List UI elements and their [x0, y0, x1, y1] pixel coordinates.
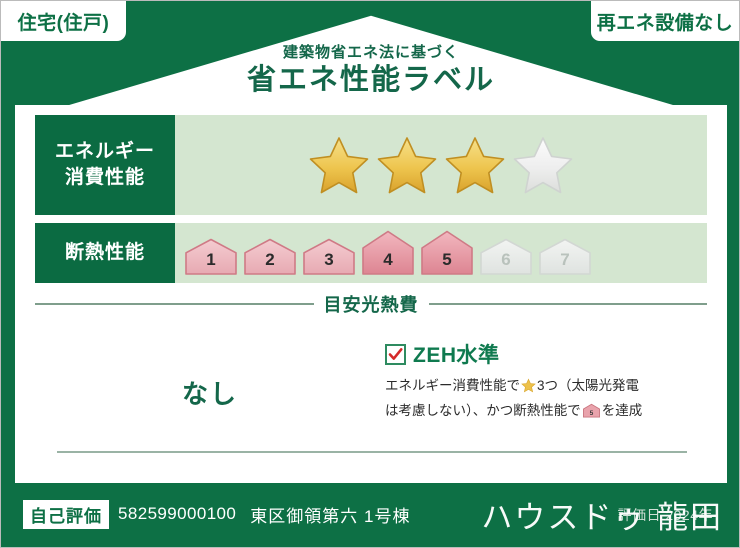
checkbox-icon	[385, 344, 406, 365]
zeh-desc-part3: を達成	[602, 403, 643, 418]
badge-renewable-energy-label: 再エネ設備なし	[597, 8, 734, 35]
star-icon-filled	[307, 134, 371, 196]
energy-performance-label-line1: エネルギー	[55, 139, 155, 165]
insulation-performance-label-text: 断熱性能	[65, 240, 145, 266]
house-icon	[302, 238, 356, 276]
insulation-level-6: 6	[478, 238, 534, 276]
utility-cost-header: 目安光熱費	[35, 291, 707, 317]
zeh-title: ZEH水準	[413, 339, 500, 369]
insulation-level-scale: 1234567	[183, 230, 593, 276]
star-icon-filled	[375, 134, 439, 196]
insulation-level-2: 2	[242, 238, 298, 276]
house-icon	[538, 238, 592, 276]
zeh-desc-star-count: 3つ（太陽光発電	[537, 378, 639, 393]
label-body-card: エネルギー 消費性能 断熱性能 1234567 目安光熱費	[15, 105, 727, 483]
insulation-performance-label: 断熱性能	[35, 223, 175, 283]
row-energy-performance: エネルギー 消費性能	[35, 115, 707, 215]
zeh-desc-part1: エネルギー消費性能で	[385, 378, 520, 393]
insulation-performance-value: 1234567	[175, 223, 707, 283]
star-icon-filled	[443, 134, 507, 196]
star-icon-inline	[521, 378, 536, 400]
star-icon-empty	[511, 134, 575, 196]
house-icon	[361, 230, 415, 276]
row-insulation-performance: 断熱性能 1234567	[35, 223, 707, 283]
zeh-heading: ZEH水準	[385, 339, 707, 369]
energy-performance-label-line2: 消費性能	[65, 165, 145, 191]
zeh-desc-part2: は考慮しない）、かつ断熱性能で	[385, 403, 581, 418]
house-icon	[243, 238, 297, 276]
divider-right	[429, 303, 708, 305]
badge-renewable-energy: 再エネ設備なし	[591, 1, 739, 41]
zeh-description: エネルギー消費性能で3つ（太陽光発電は考慮しない）、かつ断熱性能で5を達成	[385, 375, 685, 424]
house-icon-inline: 5	[582, 403, 601, 425]
insulation-level-1: 1	[183, 238, 239, 276]
house-icon	[184, 238, 238, 276]
badge-building-type: 住宅(住戸)	[1, 1, 126, 41]
label-id: 582599000100	[118, 504, 236, 524]
energy-label-card: 住宅(住戸) 再エネ設備なし 建築物省エネ法に基づく 省エネ性能ラベル エネルギ…	[0, 0, 740, 548]
utility-cost-column: なし	[35, 317, 385, 467]
performance-rows: エネルギー 消費性能 断熱性能 1234567	[15, 105, 727, 283]
divider-left	[35, 303, 314, 305]
svg-text:5: 5	[589, 409, 593, 416]
insulation-level-4: 4	[360, 230, 416, 276]
badge-building-type-label: 住宅(住戸)	[18, 8, 110, 35]
insulation-level-3: 3	[301, 238, 357, 276]
zeh-column: ZEH水準 エネルギー消費性能で3つ（太陽光発電は考慮しない）、かつ断熱性能で5…	[385, 317, 707, 467]
utility-cost-title: 目安光熱費	[314, 291, 429, 317]
insulation-level-7: 7	[537, 238, 593, 276]
energy-performance-value	[175, 115, 707, 215]
evaluation-type-badge: 自己評価	[23, 500, 109, 529]
building-name: 東区御領第六 1号棟	[250, 502, 410, 527]
watermark-text: ハウスドゥ 龍田	[481, 492, 723, 537]
star-rating	[307, 134, 575, 196]
energy-performance-label: エネルギー 消費性能	[35, 115, 175, 215]
card-bottom-divider	[57, 451, 687, 453]
house-icon	[420, 230, 474, 276]
lower-section: なし ZEH水準 エネルギー消費性能で3つ（太陽光発電は考慮しない）、かつ断熱性…	[35, 317, 707, 467]
house-icon	[479, 238, 533, 276]
insulation-level-5: 5	[419, 230, 475, 276]
utility-cost-value: なし	[182, 374, 238, 411]
